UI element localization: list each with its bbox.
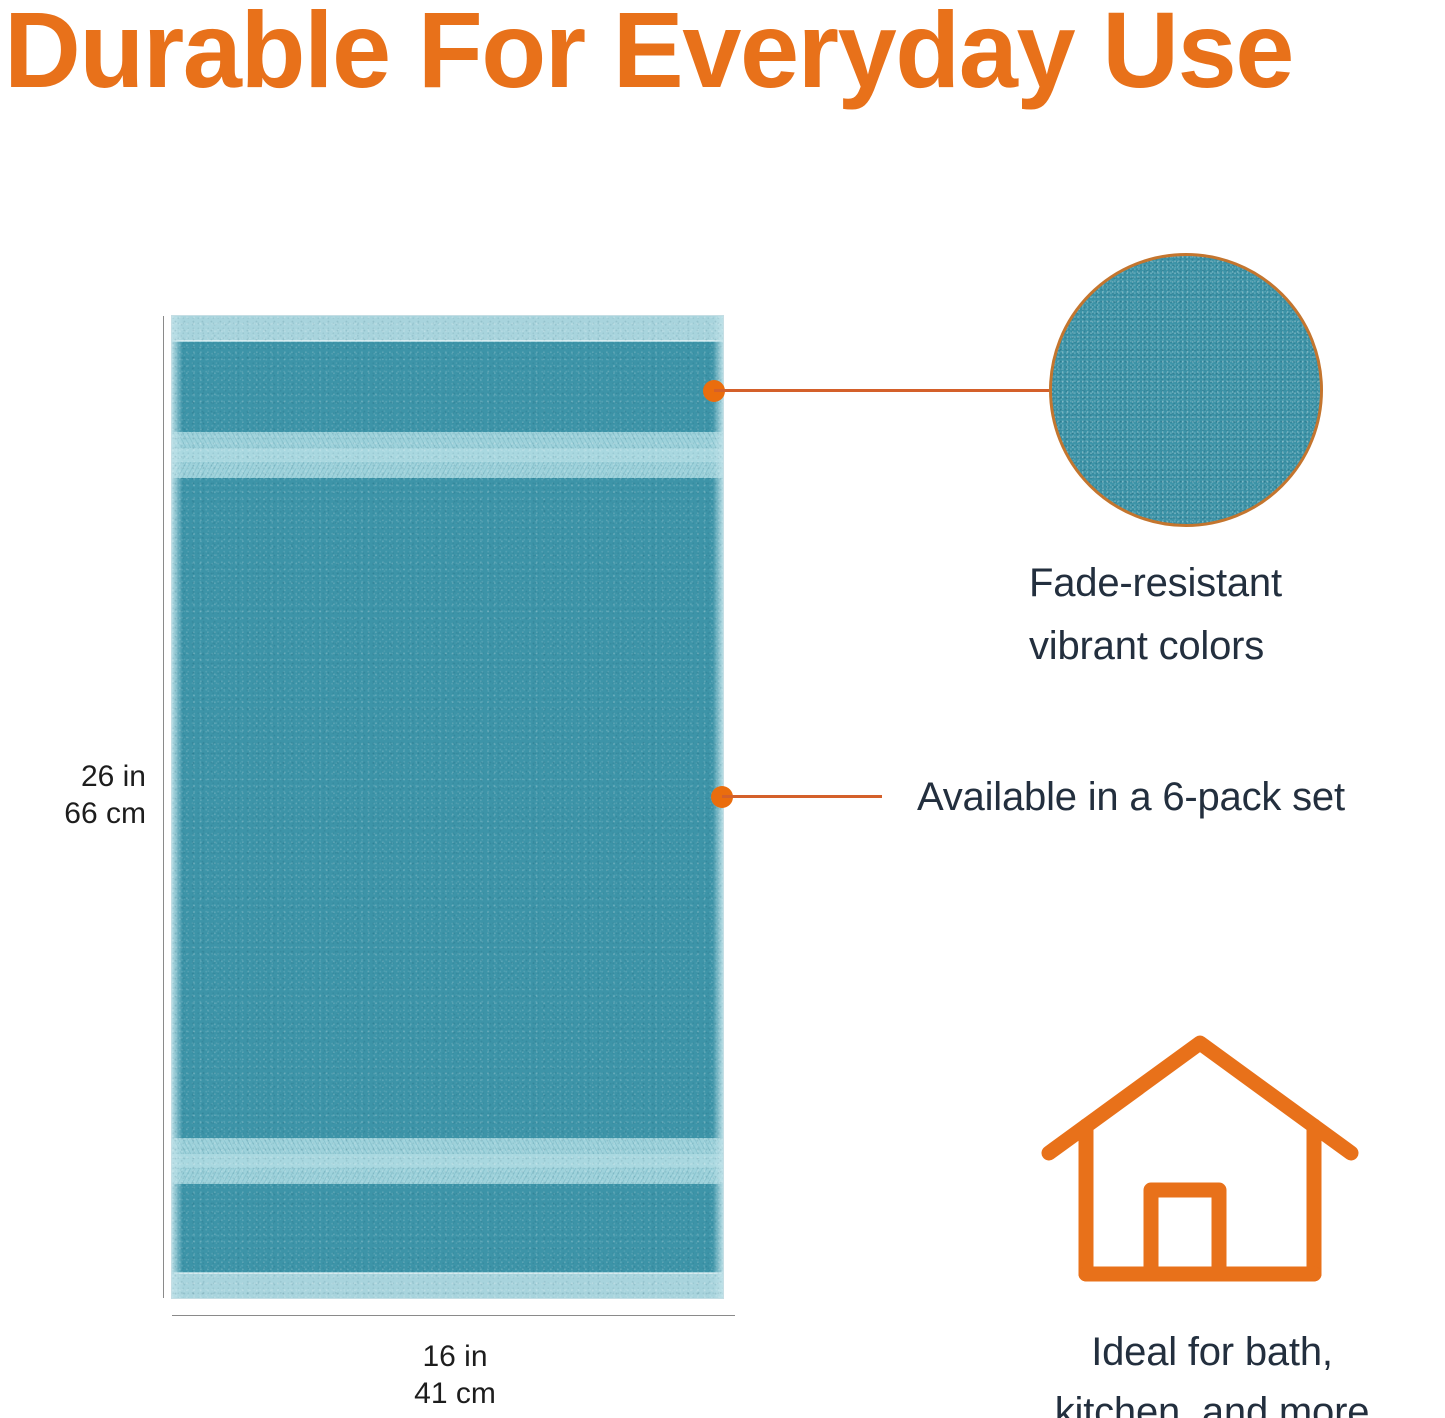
towel-dobby-band-lower-b: [172, 1168, 723, 1184]
page-title: Durable For Everyday Use: [4, 0, 1423, 106]
feature-label-six-pack: Available in a 6-pack set: [917, 766, 1445, 829]
house-icon: [1035, 1025, 1365, 1297]
towel-left-selvedge: [172, 316, 182, 1298]
towel-body: [172, 316, 723, 1298]
towel-upper-terry: [172, 342, 723, 432]
feature-label-fade-resistant: Fade-resistant vibrant colors: [1029, 552, 1429, 678]
towel-top-hem: [172, 316, 723, 342]
width-dimension-label: 16 in 41 cm: [340, 1338, 570, 1412]
height-dimension-label: 26 in 66 cm: [18, 758, 146, 832]
width-measure-line: [172, 1315, 735, 1316]
towel-dobby-band-lower-a: [172, 1138, 723, 1154]
towel-dobby-plain-upper: [172, 448, 723, 462]
towel-main-terry: [172, 478, 723, 1138]
callout-leader-six-pack: [722, 795, 882, 798]
towel-bottom-hem: [172, 1272, 723, 1298]
fabric-swatch-circle: [1049, 253, 1323, 527]
towel-lower-terry: [172, 1184, 723, 1272]
height-measure-line: [163, 316, 164, 1298]
towel-dobby-band-upper-b: [172, 462, 723, 478]
towel-product-image: [172, 316, 723, 1298]
feature-label-ideal-for: Ideal for bath, kitchen, and more: [1012, 1322, 1412, 1418]
towel-dobby-plain-lower: [172, 1154, 723, 1168]
callout-leader-fade-resistant: [714, 389, 1054, 392]
infographic-page: Durable For Everyday Use 26 in 66 cm 16 …: [0, 0, 1445, 1418]
towel-dobby-band-upper-a: [172, 432, 723, 448]
swatch-terry-texture: [1052, 256, 1320, 524]
